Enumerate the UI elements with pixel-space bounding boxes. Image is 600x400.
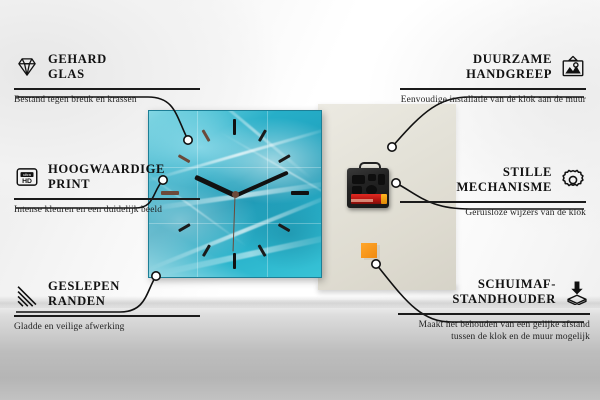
feature-header: DUURZAME HANDGREEP bbox=[400, 50, 586, 84]
feature-title: GEHARD GLAS bbox=[48, 52, 107, 82]
feature-description: Intense kleuren en een duidelijk beeld bbox=[14, 204, 200, 217]
glass-pane-line bbox=[267, 111, 268, 277]
feature-description: Bestand tegen breuk en krassen bbox=[14, 94, 200, 107]
feature-title: DUURZAME HANDGREEP bbox=[466, 52, 552, 82]
feature-description: Geruisloze wijzers van de klok bbox=[400, 207, 586, 220]
clock-tick-3 bbox=[291, 191, 309, 195]
feature-geslepen-randen: GESLEPEN RANDEN Gladde en veilige afwerk… bbox=[14, 277, 200, 333]
feature-hoogwaardige-print: ultra HD HOOGWAARDIGE PRINT Intense kleu… bbox=[14, 160, 200, 216]
feature-divider bbox=[14, 198, 200, 200]
glass-pane-line bbox=[149, 223, 321, 224]
feature-title: STILLE MECHANISME bbox=[456, 165, 552, 195]
bevelled-edge-icon bbox=[14, 281, 40, 307]
gear-icon bbox=[560, 167, 586, 193]
feature-divider bbox=[14, 315, 200, 317]
feature-divider bbox=[400, 201, 586, 203]
mechanism-knob-d bbox=[352, 186, 362, 194]
feature-header: ultra HD HOOGWAARDIGE PRINT bbox=[14, 160, 200, 194]
feature-divider bbox=[14, 88, 200, 90]
feature-title: SCHUIMAF- STANDHOUDER bbox=[452, 277, 556, 307]
feature-header: STILLE MECHANISME bbox=[400, 163, 586, 197]
svg-text:HD: HD bbox=[22, 178, 32, 185]
feature-duurzame-handgreep: DUURZAME HANDGREEP Eenvoudige installati… bbox=[400, 50, 586, 106]
feature-header: GEHARD GLAS bbox=[14, 50, 200, 84]
clock-mechanism bbox=[347, 168, 389, 208]
picture-frame-icon bbox=[560, 54, 586, 80]
diamond-icon bbox=[14, 54, 40, 80]
clock-tick-12 bbox=[233, 119, 236, 135]
clock-tick-6 bbox=[233, 253, 236, 269]
feature-divider bbox=[400, 88, 586, 90]
feature-header: SCHUIMAF- STANDHOUDER bbox=[398, 275, 590, 309]
feature-title: HOOGWAARDIGE PRINT bbox=[48, 162, 165, 192]
clock-center-cap bbox=[232, 191, 239, 198]
battery-positive-terminal bbox=[381, 194, 387, 204]
svg-text:ultra: ultra bbox=[23, 172, 32, 177]
mechanism-knob-a bbox=[352, 175, 365, 184]
feature-schuim-afstandhouder: SCHUIMAF- STANDHOUDER Maakt het behouden… bbox=[398, 275, 590, 344]
feature-description: Maakt het behouden van een gelijke afsta… bbox=[398, 319, 590, 344]
mechanism-knob-c bbox=[378, 174, 385, 185]
infographic-canvas: GEHARD GLAS Bestand tegen breuk en krass… bbox=[0, 0, 600, 400]
foam-spacer-icon bbox=[564, 279, 590, 305]
feature-stille-mechanisme: STILLE MECHANISME Geruisloze wijzers van… bbox=[400, 163, 586, 219]
feature-header: GESLEPEN RANDEN bbox=[14, 277, 200, 311]
foam-spacer-part bbox=[361, 243, 377, 258]
ultra-hd-icon: ultra HD bbox=[14, 164, 40, 190]
feature-description: Gladde en veilige afwerking bbox=[14, 321, 200, 334]
battery-label bbox=[351, 199, 373, 202]
feature-description: Eenvoudige installatie van de klok aan d… bbox=[400, 94, 586, 107]
feature-divider bbox=[398, 313, 590, 315]
feature-title: GESLEPEN RANDEN bbox=[48, 279, 120, 309]
mechanism-knob-b bbox=[368, 174, 376, 181]
feature-gehard-glas: GEHARD GLAS Bestand tegen breuk en krass… bbox=[14, 50, 200, 106]
